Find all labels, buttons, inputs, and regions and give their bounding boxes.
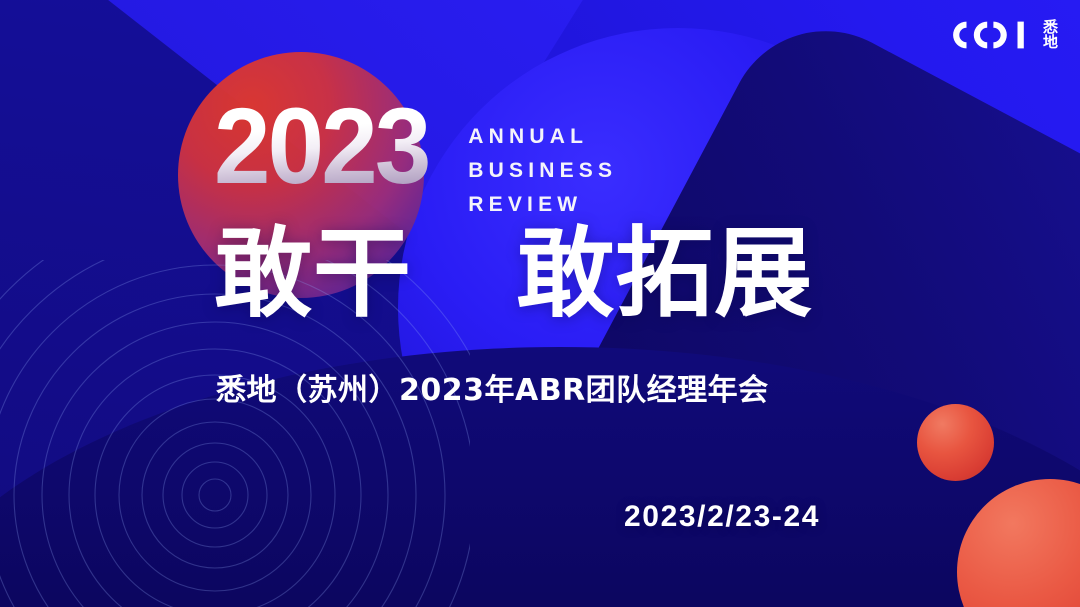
ccdi-wordmark-icon [949,20,1035,50]
event-date: 2023/2/23-24 [624,500,820,534]
logo-cn-char-1: 悉 [1043,20,1058,35]
year-block: 2023 ANNUAL BUSINESS REVIEW [214,96,617,222]
subtitle: 悉地（苏州）2023年ABR团队经理年会 [216,365,769,409]
poster-content: 2023 ANNUAL BUSINESS REVIEW 敢干 敢拓展 悉地（苏州… [0,0,1080,607]
brand-logo: 悉 地 [949,20,1058,51]
eyebrow-line-annual: ANNUAL [468,120,617,154]
logo-chinese-text: 悉 地 [1042,20,1058,51]
year-label: 2023 [214,96,429,195]
headline: 敢干 敢拓展 [214,224,813,326]
headline-part-1: 敢干 [214,217,412,331]
headline-part-2: 敢拓展 [516,217,813,331]
annual-business-review-block: ANNUAL BUSINESS REVIEW [468,120,617,222]
eyebrow-line-business: BUSINESS [468,154,617,188]
logo-cn-char-2: 地 [1043,35,1058,50]
poster-canvas: 悉 地 2023 ANNUAL BUSINESS REVIEW 敢干 敢拓展 悉… [0,0,1080,607]
